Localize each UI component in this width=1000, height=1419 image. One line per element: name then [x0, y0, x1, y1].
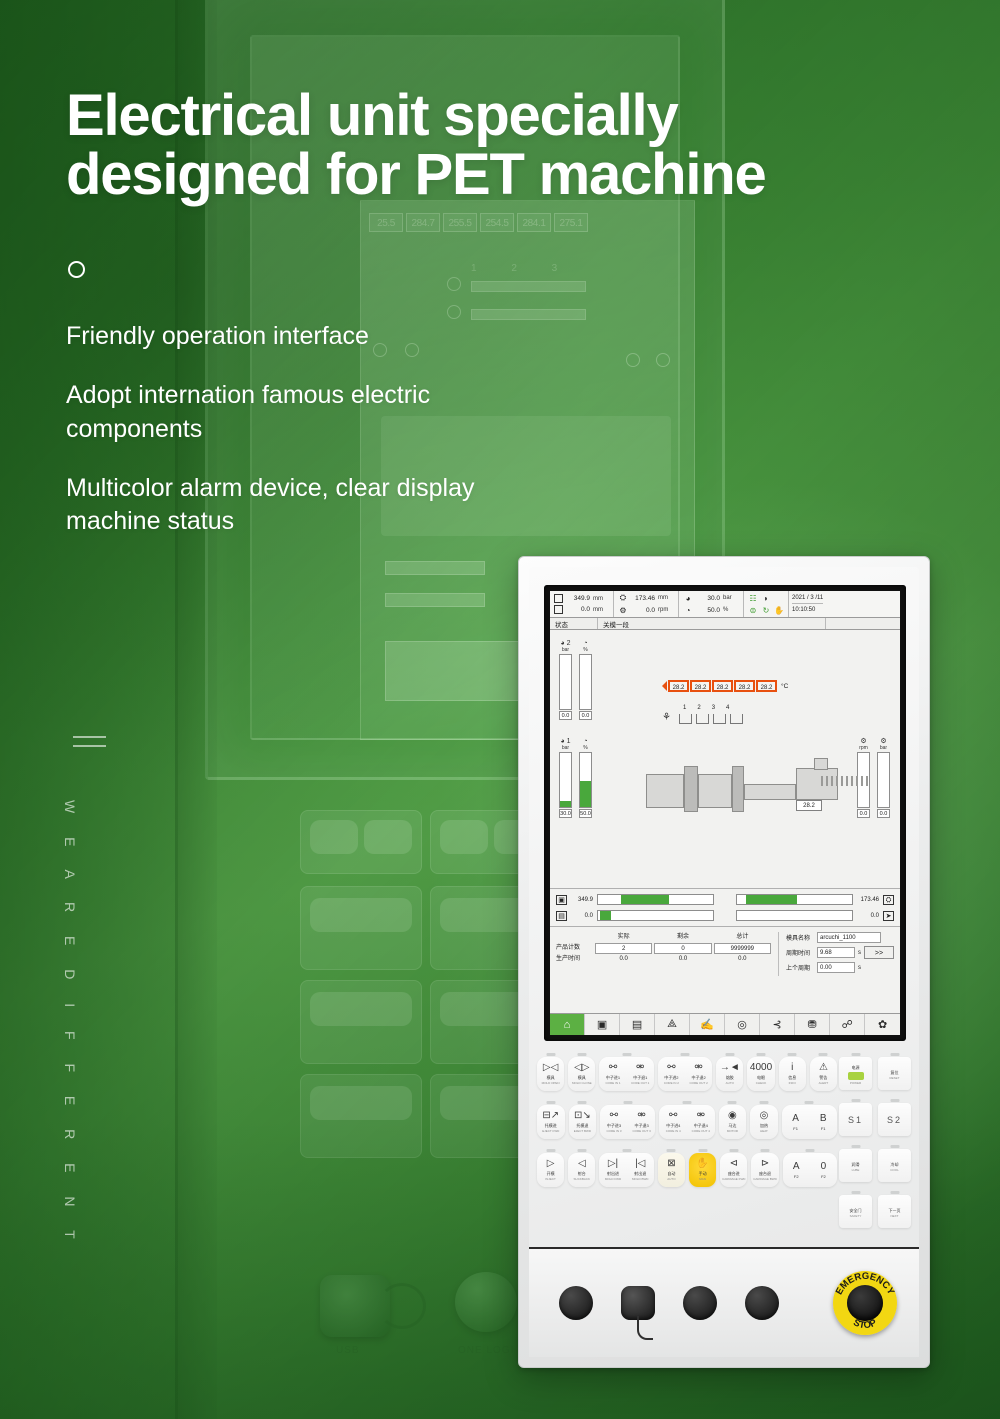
- key-function-ab-2[interactable]: A F2 0 F2: [783, 1153, 837, 1187]
- temperature-cell[interactable]: 28.2: [690, 680, 711, 692]
- key-eject-fwd[interactable]: ⊟↗ 托模进 EJECT FWD: [537, 1105, 565, 1139]
- emergency-stop-button[interactable]: EMERGENCY STOP: [833, 1271, 897, 1335]
- screw-speed-unit: rpm: [658, 607, 674, 613]
- feature-item-1: Friendly operation interface: [66, 320, 536, 353]
- knob-4[interactable]: [745, 1286, 779, 1320]
- cell-time-remaining: 0.0: [653, 954, 712, 965]
- screw-speed-value: 0.0: [631, 607, 655, 614]
- screw-stroke-icon: ⛭: [883, 895, 894, 905]
- side-key-cool[interactable]: 冷却 COOL: [878, 1149, 911, 1182]
- bar-row-2: ▤ 0.0 0.0 ➤: [556, 910, 894, 921]
- hmi-main-graphic: ◕ 2bar 0.0 ◔% 0.0 ◕ 1bar: [550, 630, 900, 888]
- temperature-cell[interactable]: 28.2: [734, 680, 755, 692]
- pressure-unit: bar: [723, 595, 739, 601]
- mold-open-unit: mm: [593, 596, 609, 602]
- key-mold-open[interactable]: ▷◁ 模具 MOLD OPEN: [537, 1057, 564, 1091]
- digit-zero-icon: 0: [821, 1162, 827, 1172]
- mold-close-icon: ◁▷: [574, 1063, 589, 1073]
- key-core-1[interactable]: ⚯ 中子进1 CORE IN 1 ⚮ 中子退1 CORE OUT 1: [599, 1057, 653, 1091]
- feature-list: Friendly operation interface Adopt inter…: [66, 320, 536, 564]
- side-label: W E A R E D I F F E R E N T: [62, 800, 78, 1249]
- check-icon: 4000: [750, 1063, 772, 1073]
- nozzle-box: [696, 714, 709, 724]
- hardware-keypad: ▷◁ 模具 MOLD OPEN ◁▷ 模具 MOLD CLOSE ⚯ 中: [537, 1057, 911, 1252]
- cell-time-total: 0.0: [713, 954, 772, 965]
- key-check[interactable]: 4000 电眼 CHECK: [747, 1057, 774, 1091]
- gauge-label: ⚙rpm: [857, 738, 870, 751]
- heater-on-icon: ☷: [748, 593, 758, 603]
- fan-icon: ⚘: [662, 712, 671, 723]
- speed-value: 50.0: [696, 607, 720, 614]
- mold-forward-icon: ▷|: [608, 1159, 618, 1169]
- table-row: 产品计数 2 0 9999999: [556, 943, 772, 954]
- pressure-icon: ◕: [683, 593, 693, 603]
- toolbar-alarm-icon[interactable]: ☍: [830, 1014, 865, 1035]
- gauge-group-top-left: ◕ 2bar 0.0 ◔% 0.0: [559, 640, 592, 720]
- mold-open-value: 349.9: [566, 595, 590, 602]
- gauge-track: [579, 752, 592, 808]
- table-header-row: 实际 剩余 总计: [556, 932, 772, 943]
- page-title-line-1: Electrical unit specially: [66, 86, 946, 145]
- side-key-next[interactable]: 下一页 NEXT: [878, 1195, 911, 1228]
- bar-track[interactable]: [736, 910, 853, 921]
- screw-ticks: [821, 776, 869, 786]
- hmi-bar-rows: ▣ 349.9 173.46 ⛭ ▤ 0.0 0.0: [550, 888, 900, 927]
- key-heat[interactable]: ◎ 加热 HEAT: [750, 1105, 778, 1139]
- production-table: 实际 剩余 总计 产品计数 2 0 9999999 生产时间 0.0: [556, 932, 779, 976]
- gauge-track: [877, 752, 890, 808]
- hmi-screen[interactable]: 349.9 mm 0.0 mm: [550, 591, 900, 1035]
- header-group-position[interactable]: 349.9 mm 0.0 mm: [550, 591, 614, 617]
- cell-count-remaining[interactable]: 0: [654, 943, 711, 954]
- pressure-value: 30.0: [696, 595, 720, 602]
- col-remaining: 剩余: [653, 932, 712, 943]
- toolbar-home-icon[interactable]: ⌂: [550, 1014, 585, 1035]
- temperature-cell[interactable]: 28.2: [712, 680, 733, 692]
- ejector-icon: [554, 605, 563, 614]
- feature-item-2: Adopt internation famous electric compon…: [66, 379, 536, 446]
- knob-3[interactable]: [683, 1286, 717, 1320]
- gauge-track: [579, 654, 592, 710]
- header-group-screw[interactable]: ⛭ 173.46 mm ⚙ 0.0 rpm: [614, 591, 679, 617]
- gauge-value: 0.0: [857, 809, 870, 818]
- stage-label: 关模一段: [598, 618, 826, 629]
- mold-open-icon: [554, 594, 563, 603]
- emergency-stop-core[interactable]: [847, 1285, 883, 1321]
- key-suckback[interactable]: ◁ 射台 SUCKBACK: [568, 1153, 595, 1187]
- keypad-row-3: ▷ 开模 INJECT ◁ 射台 SUCKBACK ▷| 射出进: [537, 1153, 837, 1187]
- page-title-line-2: designed for PET machine: [66, 145, 946, 204]
- screen-bezel: 349.9 mm 0.0 mm: [544, 585, 906, 1041]
- table-row: 生产时间 0.0 0.0 0.0: [556, 954, 772, 965]
- key-eject-bwd[interactable]: ⊡↘ 托模退 EJECT BWD: [569, 1105, 597, 1139]
- letter-a-icon: A: [793, 1162, 800, 1172]
- carriage-backward-icon: ⊳: [761, 1159, 769, 1169]
- toolbar-settings-icon[interactable]: ✿: [865, 1014, 900, 1035]
- gauge-label: ⚙bar: [877, 738, 890, 751]
- header-status-icons[interactable]: ☷ ◗ ⊜ ↻ ✋: [744, 591, 789, 617]
- gauge-pressure-1[interactable]: ◕ 1bar 30.0: [559, 738, 572, 818]
- nozzle-box: [713, 714, 726, 724]
- screw-position-value: 173.46: [631, 595, 655, 602]
- side-label-marks-icon: [73, 736, 106, 754]
- core-out-2-icon: ⚮: [694, 1063, 702, 1073]
- key-auto[interactable]: →◄ 熔胶 AUTO: [716, 1057, 743, 1091]
- ejector-unit: mm: [593, 607, 609, 613]
- letter-a-icon: A: [792, 1114, 799, 1124]
- eject-backward-icon: ⊡↘: [574, 1111, 591, 1121]
- nozzle-index: 3: [712, 705, 715, 711]
- key-alert[interactable]: ⚠ 警告 ALERT: [810, 1057, 837, 1091]
- feature-item-3: Multicolor alarm device, clear display m…: [66, 472, 536, 539]
- cycle-time-label: 周期时间: [786, 948, 814, 957]
- motor-icon: ◗: [761, 593, 771, 603]
- temperature-pointer-icon: [662, 681, 667, 691]
- gauge-track: [559, 752, 572, 808]
- gauge-pressure-2[interactable]: ◕ 2bar 0.0: [559, 640, 572, 720]
- gauge-value: 0.0: [579, 711, 592, 720]
- nozzle-index: 2: [697, 705, 700, 711]
- header-date: 2021 / 3 /11: [792, 595, 823, 604]
- mold-name-row: 模具名称 arcuchi_1100: [786, 932, 894, 943]
- temperature-cell[interactable]: 28.2: [668, 680, 689, 692]
- screw-position-icon: ⛭: [618, 593, 628, 603]
- side-key-reset[interactable]: 复位 RESET: [878, 1057, 911, 1090]
- gauge-back-pressure[interactable]: ⚙bar 0.0: [877, 738, 890, 818]
- key-mold-close[interactable]: ◁▷ 模具 MOLD CLOSE: [568, 1057, 595, 1091]
- core-out-4-icon: ⚮: [697, 1111, 705, 1121]
- hmi-subheader: 状态 关模一段: [550, 618, 900, 630]
- last-cycle-value[interactable]: 0.00: [817, 962, 855, 973]
- header-datetime: 2021 / 3 /11 10:10:50: [789, 591, 826, 617]
- info-icon: i: [791, 1063, 793, 1073]
- core-in-4-icon: ⚯: [669, 1111, 677, 1121]
- gauge-group-bottom-left: ◕ 1bar 30.0 ◔% 50.0: [559, 738, 592, 818]
- inject-icon: ▷: [547, 1159, 555, 1169]
- speed-icon: ◔: [683, 605, 693, 615]
- gauge-value: 50.0: [579, 809, 592, 818]
- injection-icon: ➤: [883, 911, 894, 921]
- key-auto-mode[interactable]: ⊠ 自动 AUTO: [658, 1153, 685, 1187]
- row-label: 生产时间: [556, 954, 594, 965]
- key-inject[interactable]: ▷ 开模 INJECT: [537, 1153, 564, 1187]
- poster-page: 25.5 284.7 255.5 254.5 284.1 275.1 1 2 3: [0, 0, 1000, 1419]
- status-label: 状态: [550, 618, 598, 629]
- temperature-row[interactable]: 28.2 28.2 28.2 28.2 28.2 °C: [662, 680, 788, 692]
- bullet-marker-icon: [68, 261, 85, 278]
- heat-icon: ◎: [760, 1111, 769, 1121]
- gauge-speed-2[interactable]: ◔% 0.0: [579, 640, 592, 720]
- nozzle-box-row: [679, 714, 743, 724]
- core-in-3-icon: ⚯: [610, 1111, 618, 1121]
- mold-backward-icon: |◁: [635, 1159, 645, 1169]
- bar-track[interactable]: [597, 910, 714, 921]
- bar-value: 0.0: [571, 913, 593, 919]
- nozzle-box: [679, 714, 692, 724]
- manual-mode-icon: ✋: [696, 1159, 708, 1169]
- alert-icon: ⚠: [819, 1063, 828, 1073]
- page-title: Electrical unit specially designed for P…: [66, 86, 946, 204]
- gauge-label: ◕ 2bar: [559, 640, 572, 653]
- header-group-pressure[interactable]: ◕ 30.0 bar ◔ 50.0 %: [679, 591, 744, 617]
- gauge-label: ◔%: [579, 640, 592, 653]
- knob-1[interactable]: [559, 1286, 593, 1320]
- pump-icon: ⊜: [748, 605, 758, 615]
- gauge-speed-1[interactable]: ◔% 50.0: [579, 738, 592, 818]
- bottom-button-bar: EMERGENCY STOP: [529, 1247, 919, 1357]
- keypad-row-2: ⊟↗ 托模进 EJECT FWD ⊡↘ 托模退 EJECT BWD ⚯: [537, 1105, 837, 1139]
- cycle-time-row: 周期时间 9.68 s >>: [786, 946, 894, 959]
- next-page-button[interactable]: >>: [864, 946, 894, 959]
- temperature-unit: °C: [781, 683, 788, 690]
- side-key-s1[interactable]: S1: [839, 1103, 872, 1136]
- side-key-safety[interactable]: 安全门 SAFETY: [839, 1195, 872, 1228]
- bar-row-1: ▣ 349.9 173.46 ⛭: [556, 894, 894, 905]
- cycle-icon: ↻: [761, 605, 771, 615]
- speed-unit: %: [723, 607, 739, 613]
- temperature-cell[interactable]: 28.2: [756, 680, 777, 692]
- power-led-icon: [848, 1072, 864, 1080]
- gauge-value: 0.0: [877, 809, 890, 818]
- gauge-label: ◔%: [579, 738, 592, 751]
- side-key-s2[interactable]: S2: [878, 1103, 911, 1136]
- usb-cap-knob[interactable]: [621, 1286, 655, 1320]
- toolbar-nozzle-icon[interactable]: ⟁: [655, 1014, 690, 1035]
- bar-value: 0.0: [857, 913, 879, 919]
- gauge-label: ◕ 1bar: [559, 738, 572, 751]
- subheader-spare: [826, 618, 900, 629]
- carriage-forward-icon: ⊲: [730, 1159, 738, 1169]
- nozzle-index-row: 1 2 3 4: [683, 705, 729, 711]
- mold-name-label: 模具名称: [786, 933, 814, 942]
- col-actual: 实际: [594, 932, 653, 943]
- toolbar-core-icon[interactable]: ⛃: [795, 1014, 830, 1035]
- side-key-power[interactable]: 电源 POWER: [839, 1057, 872, 1090]
- core-in-2-icon: ⚯: [667, 1063, 675, 1073]
- bar-value: 349.9: [571, 897, 593, 903]
- keypad-row-1: ▷◁ 模具 MOLD OPEN ◁▷ 模具 MOLD CLOSE ⚯ 中: [537, 1057, 837, 1091]
- auto-icon: →◄: [720, 1063, 740, 1073]
- header-time: 10:10:50: [792, 607, 823, 613]
- ejector-stroke-icon: ▤: [556, 911, 567, 921]
- core-in-1-icon: ⚯: [609, 1063, 617, 1073]
- bar-value: 173.46: [857, 897, 879, 903]
- last-cycle-row: 上个周期 0.00 s: [786, 962, 894, 973]
- toolbar-ejector-icon[interactable]: ▤: [620, 1014, 655, 1035]
- machine-schematic: 28.2: [646, 758, 846, 814]
- cell-count-total[interactable]: 9999999: [714, 943, 771, 954]
- mold-stroke-icon: ▣: [556, 895, 567, 905]
- key-core-3[interactable]: ⚯ 中子进3 CORE IN 3 ⚮ 中子退3 CORE OUT 3: [600, 1105, 655, 1139]
- hmi-header: 349.9 mm 0.0 mm: [550, 591, 900, 618]
- row-label: 产品计数: [556, 943, 594, 954]
- last-cycle-unit: s: [858, 965, 861, 971]
- bar-track[interactable]: [736, 894, 853, 905]
- hand-mode-icon: ✋: [774, 605, 784, 615]
- mold-info-panel: 模具名称 arcuchi_1100 周期时间 9.68 s >> 上个周期 0.…: [786, 932, 894, 976]
- toolbar-injection-icon[interactable]: ✍: [690, 1014, 725, 1035]
- key-carriage-fwd[interactable]: ⊲ 座台进 CARRIAGE FWD: [720, 1153, 747, 1187]
- nozzle-box: [730, 714, 743, 724]
- toolbar-charge-icon[interactable]: ◎: [725, 1014, 760, 1035]
- gauge-value: 30.0: [559, 809, 572, 818]
- nozzle-temp-value: 28.2: [796, 800, 822, 811]
- hmi-toolbar: ⌂ ▣ ▤ ⟁ ✍ ◎ ⊰ ⛃ ☍ ✿: [550, 1013, 900, 1035]
- hmi-tables: 实际 剩余 总计 产品计数 2 0 9999999 生产时间 0.0: [550, 927, 900, 981]
- screw-speed-icon: ⚙: [618, 605, 628, 615]
- nozzle-index: 1: [683, 705, 686, 711]
- col-total: 总计: [713, 932, 772, 943]
- ejector-value: 0.0: [566, 606, 590, 613]
- key-motor[interactable]: ◉ 马达 MOTOR: [719, 1105, 747, 1139]
- key-core-4[interactable]: ⚯ 中子进4 CORE IN 4 ⚮ 中子退4 CORE OUT 4: [659, 1105, 714, 1139]
- auto-mode-icon: ⊠: [667, 1159, 675, 1169]
- side-key-lube[interactable]: 润滑 LUBE: [839, 1149, 872, 1182]
- toolbar-mold-icon[interactable]: ▣: [585, 1014, 620, 1035]
- letter-b-icon: B: [820, 1114, 827, 1124]
- last-cycle-label: 上个周期: [786, 963, 814, 972]
- control-panel-device: 349.9 mm 0.0 mm: [518, 556, 930, 1368]
- core-out-1-icon: ⚮: [636, 1063, 644, 1073]
- motor-icon: ◉: [728, 1111, 737, 1121]
- mold-name-input[interactable]: arcuchi_1100: [817, 932, 881, 943]
- bar-track[interactable]: [597, 894, 714, 905]
- gauge-track: [559, 654, 572, 710]
- cell-time-actual: 0.0: [594, 954, 653, 965]
- eject-forward-icon: ⊟↗: [542, 1111, 559, 1121]
- cycle-time-unit: s: [858, 950, 861, 956]
- screw-position-unit: mm: [658, 595, 674, 601]
- gauge-value: 0.0: [559, 711, 572, 720]
- key-mold-move[interactable]: ▷| 射出进 MOLD FWD |◁ 射出退 MOLD BWD: [599, 1153, 653, 1187]
- cycle-time-value[interactable]: 9.68: [817, 947, 855, 958]
- toolbar-temperature-icon[interactable]: ⊰: [760, 1014, 795, 1035]
- core-out-3-icon: ⚮: [637, 1111, 645, 1121]
- key-core-2[interactable]: ⚯ 中子进2 CORE IN 2 ⚮ 中子退2 CORE OUT 2: [658, 1057, 712, 1091]
- key-carriage-bwd[interactable]: ⊳ 座台退 CARRIAGE BWD: [751, 1153, 778, 1187]
- suckback-icon: ◁: [578, 1159, 586, 1169]
- key-info[interactable]: i 信息 INFO: [779, 1057, 806, 1091]
- nozzle-index: 4: [726, 705, 729, 711]
- key-function-ab-1[interactable]: A F1 B F1: [782, 1105, 837, 1139]
- key-manual-mode[interactable]: ✋ 手动 MAN: [689, 1153, 716, 1187]
- cell-count-actual[interactable]: 2: [595, 943, 652, 954]
- mold-open-icon: ▷◁: [543, 1063, 558, 1073]
